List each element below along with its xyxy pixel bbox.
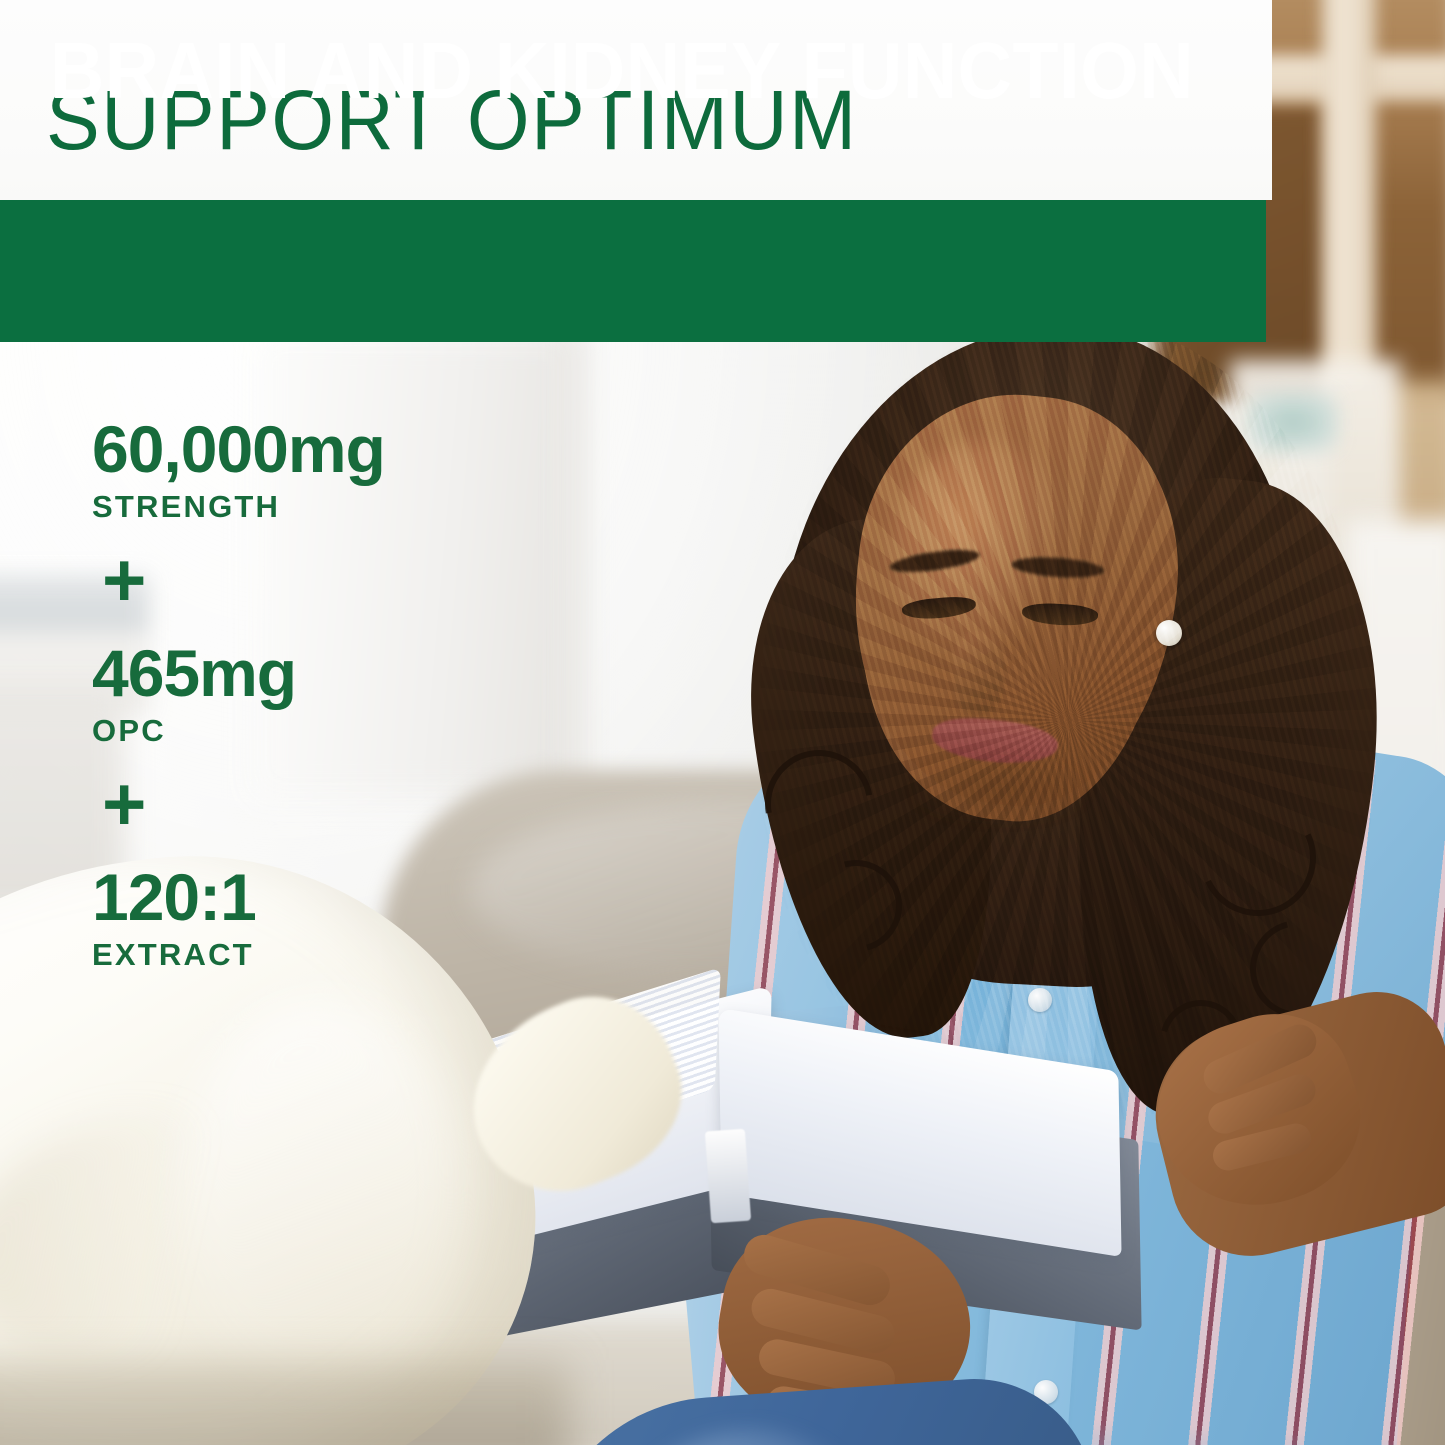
stat-label-strength: STRENGTH: [92, 488, 612, 526]
banner-strip: [0, 200, 1266, 342]
banner-title: BRAIN AND KIDNEY FUNCTION: [50, 28, 1194, 114]
stat-label-extract: EXTRACT: [92, 936, 612, 974]
stat-value-extract: 120:1: [92, 860, 612, 934]
stats-list: 60,000mg STRENGTH + 465mg OPC + 120:1 EX…: [92, 412, 612, 974]
pillow-shadow: [0, 1360, 570, 1445]
stat-value-strength: 60,000mg: [92, 412, 612, 486]
stat-label-opc: OPC: [92, 712, 612, 750]
product-marketing-image: SUPPORT OPTIMUM BRAIN AND KIDNEY FUNCTIO…: [0, 0, 1445, 1445]
person-reading: [560, 320, 1445, 1445]
stat-value-opc: 465mg: [92, 636, 612, 710]
plus-separator-2: +: [102, 766, 612, 844]
plus-separator-1: +: [102, 542, 612, 620]
book-spine: [705, 1129, 751, 1224]
